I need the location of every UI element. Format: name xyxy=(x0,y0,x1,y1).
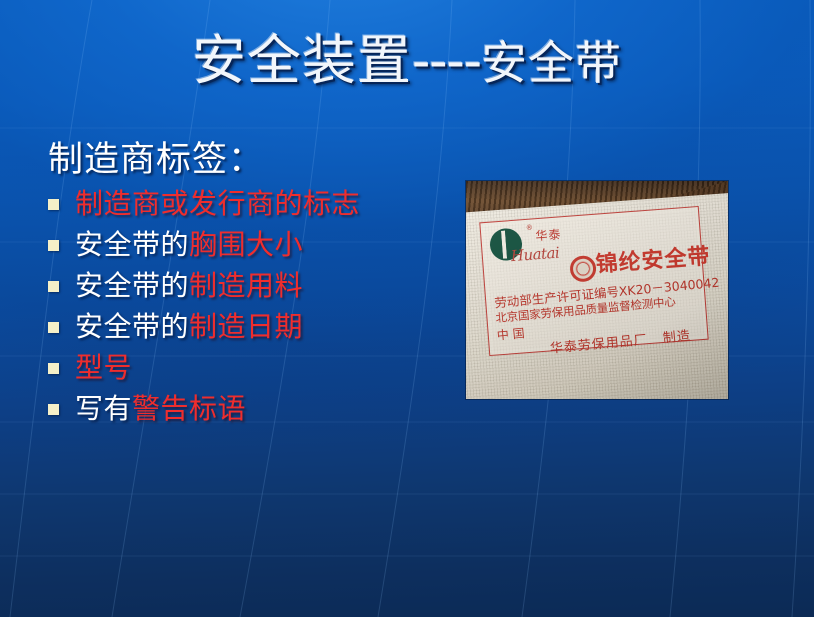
list-item-text: 安全带的制造用料 xyxy=(75,268,303,304)
square-bullet-icon xyxy=(48,363,59,374)
square-bullet-icon xyxy=(48,199,59,210)
presentation-slide: 安全装置----安全带 制造商标签： 制造商或发行商的标志 安全带的胸围大小 安… xyxy=(0,0,814,617)
list-item-highlight: 警告标语 xyxy=(132,392,246,425)
slide-title-main: 安全装置 xyxy=(192,29,412,92)
list-item: 安全带的制造日期 xyxy=(40,309,440,345)
slide-title: 安全装置----安全带 xyxy=(0,30,814,94)
list-item: 写有警告标语 xyxy=(40,391,440,427)
country-line: 中 国 xyxy=(496,324,525,343)
list-item-highlight: 制造商或发行商的标志 xyxy=(75,187,360,220)
list-item-plain: 安全带的 xyxy=(75,310,189,343)
list-item-highlight: 型号 xyxy=(75,351,132,384)
certification-seal-icon xyxy=(569,255,597,283)
label-card: ® 华泰 Huatai 锦纶安全带 劳动部生产许可证编号XK20－3040042… xyxy=(479,206,708,356)
list-item-text: 安全带的胸围大小 xyxy=(75,227,303,263)
square-bullet-icon xyxy=(48,281,59,292)
square-bullet-icon xyxy=(48,322,59,333)
registered-mark: ® xyxy=(526,223,534,232)
bullet-list: 制造商或发行商的标志 安全带的胸围大小 安全带的制造用料 安全带的制造日期 型号 xyxy=(40,186,440,427)
slide-title-dashes: ---- xyxy=(412,29,481,92)
brand-name-cn: 华泰 xyxy=(535,225,562,244)
list-item-plain: 安全带的 xyxy=(75,228,189,261)
list-item-text: 制造商或发行商的标志 xyxy=(75,186,360,222)
country-text: 中 国 xyxy=(496,326,525,343)
product-name: 锦纶安全带 xyxy=(595,246,711,277)
made-by-text: 制造 xyxy=(662,329,691,347)
list-item-highlight: 制造日期 xyxy=(189,310,303,343)
square-bullet-icon xyxy=(48,404,59,415)
square-bullet-icon xyxy=(48,240,59,251)
list-item-highlight: 制造用料 xyxy=(189,269,303,302)
list-item: 型号 xyxy=(40,350,440,386)
section-heading: 制造商标签： xyxy=(48,138,440,182)
list-item: 安全带的胸围大小 xyxy=(40,227,440,263)
list-item-text: 安全带的制造日期 xyxy=(75,309,303,345)
list-item-text: 型号 xyxy=(75,350,132,386)
brand-name-latin: Huatai xyxy=(510,244,560,266)
list-item: 制造商或发行商的标志 xyxy=(40,186,440,222)
safety-belt-label-photo: ® 华泰 Huatai 锦纶安全带 劳动部生产许可证编号XK20－3040042… xyxy=(466,181,728,399)
slide-body: 制造商标签： 制造商或发行商的标志 安全带的胸围大小 安全带的制造用料 安全带的… xyxy=(40,138,440,432)
list-item-highlight: 胸围大小 xyxy=(189,228,303,261)
list-item-plain: 安全带的 xyxy=(75,269,189,302)
slide-title-tail: 安全带 xyxy=(481,36,622,90)
list-item-plain: 写有 xyxy=(75,392,132,425)
list-item: 安全带的制造用料 xyxy=(40,268,440,304)
list-item-text: 写有警告标语 xyxy=(75,391,246,427)
